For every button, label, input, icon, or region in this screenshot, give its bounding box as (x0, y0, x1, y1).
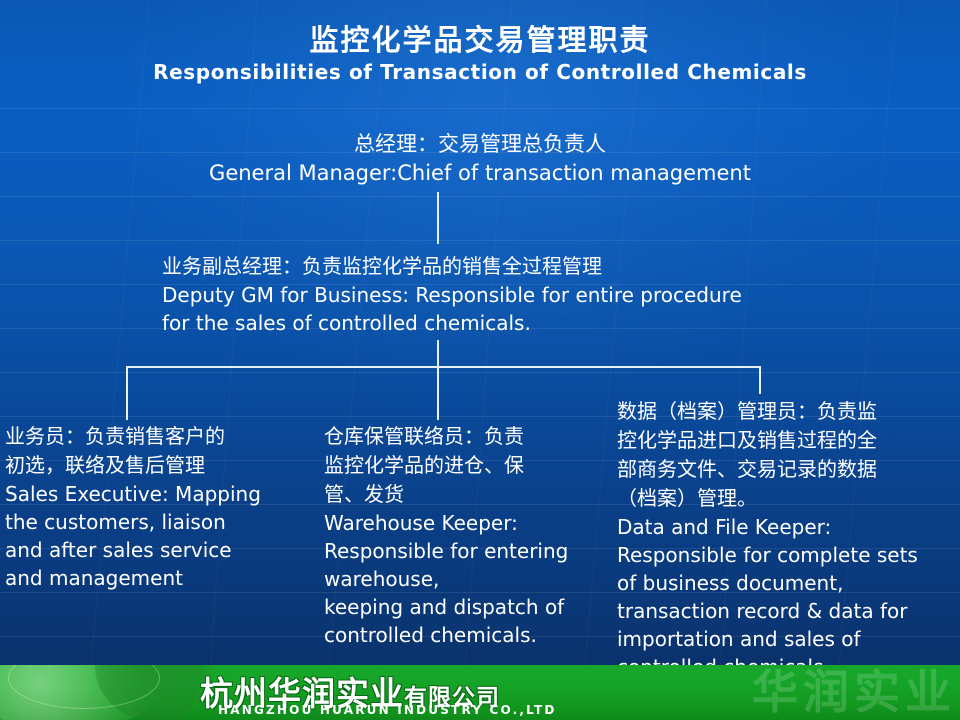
page-title: 监控化学品交易管理职责 Responsibilities of Transact… (0, 24, 960, 85)
connector-drop-sales (126, 366, 128, 420)
org-node-general-manager-cn: 总经理：交易管理总负责人 (0, 130, 960, 159)
connector-drop-data (759, 366, 761, 394)
org-node-deputy-gm-en: Deputy GM for Business: Responsible for … (162, 281, 842, 337)
org-node-deputy-gm-cn: 业务副总经理：负责监控化学品的销售全过程管理 (162, 252, 842, 281)
footer-logo-band: 华润实业 杭州华润实业有限公司 HANGZHOU HUARUN INDUSTRY… (0, 665, 960, 720)
org-node-data-file-keeper: 数据（档案）管理员：负责监 控化学品进口及销售过程的全 部商务文件、交易记录的数… (617, 397, 955, 681)
slide-canvas: 监控化学品交易管理职责 Responsibilities of Transact… (0, 0, 960, 720)
page-title-cn: 监控化学品交易管理职责 (0, 24, 960, 57)
page-title-en: Responsibilities of Transaction of Contr… (0, 60, 960, 85)
org-node-warehouse-keeper: 仓库保管联络员：负责 监控化学品的进仓、保 管、发货 Warehouse Kee… (324, 422, 614, 649)
org-node-general-manager-en: General Manager:Chief of transaction man… (0, 159, 960, 188)
org-node-sales-executive-en: Sales Executive: Mapping the customers, … (5, 480, 305, 592)
org-node-general-manager: 总经理：交易管理总负责人 General Manager:Chief of tr… (0, 130, 960, 188)
org-node-data-file-keeper-en: Data and File Keeper: Responsible for co… (617, 513, 955, 681)
connector-drop-warehouse (437, 366, 439, 420)
org-node-warehouse-keeper-en: Warehouse Keeper: Responsible for enteri… (324, 509, 614, 649)
footer-company-en: HANGZHOU HUARUN INDUSTRY CO.,LTD (218, 703, 557, 717)
connector-deputy-stem (437, 340, 439, 368)
org-node-data-file-keeper-cn: 数据（档案）管理员：负责监 控化学品进口及销售过程的全 部商务文件、交易记录的数… (617, 397, 955, 513)
footer-watermark: 华润实业 (752, 665, 956, 719)
org-node-sales-executive: 业务员：负责销售客户的 初选，联络及售后管理 Sales Executive: … (5, 422, 305, 592)
connector-horizontal-bus (126, 366, 761, 368)
org-node-warehouse-keeper-cn: 仓库保管联络员：负责 监控化学品的进仓、保 管、发货 (324, 422, 614, 509)
org-node-deputy-gm: 业务副总经理：负责监控化学品的销售全过程管理 Deputy GM for Bus… (162, 252, 842, 337)
connector-gm-to-deputy (437, 192, 439, 244)
org-node-sales-executive-cn: 业务员：负责销售客户的 初选，联络及售后管理 (5, 422, 305, 480)
